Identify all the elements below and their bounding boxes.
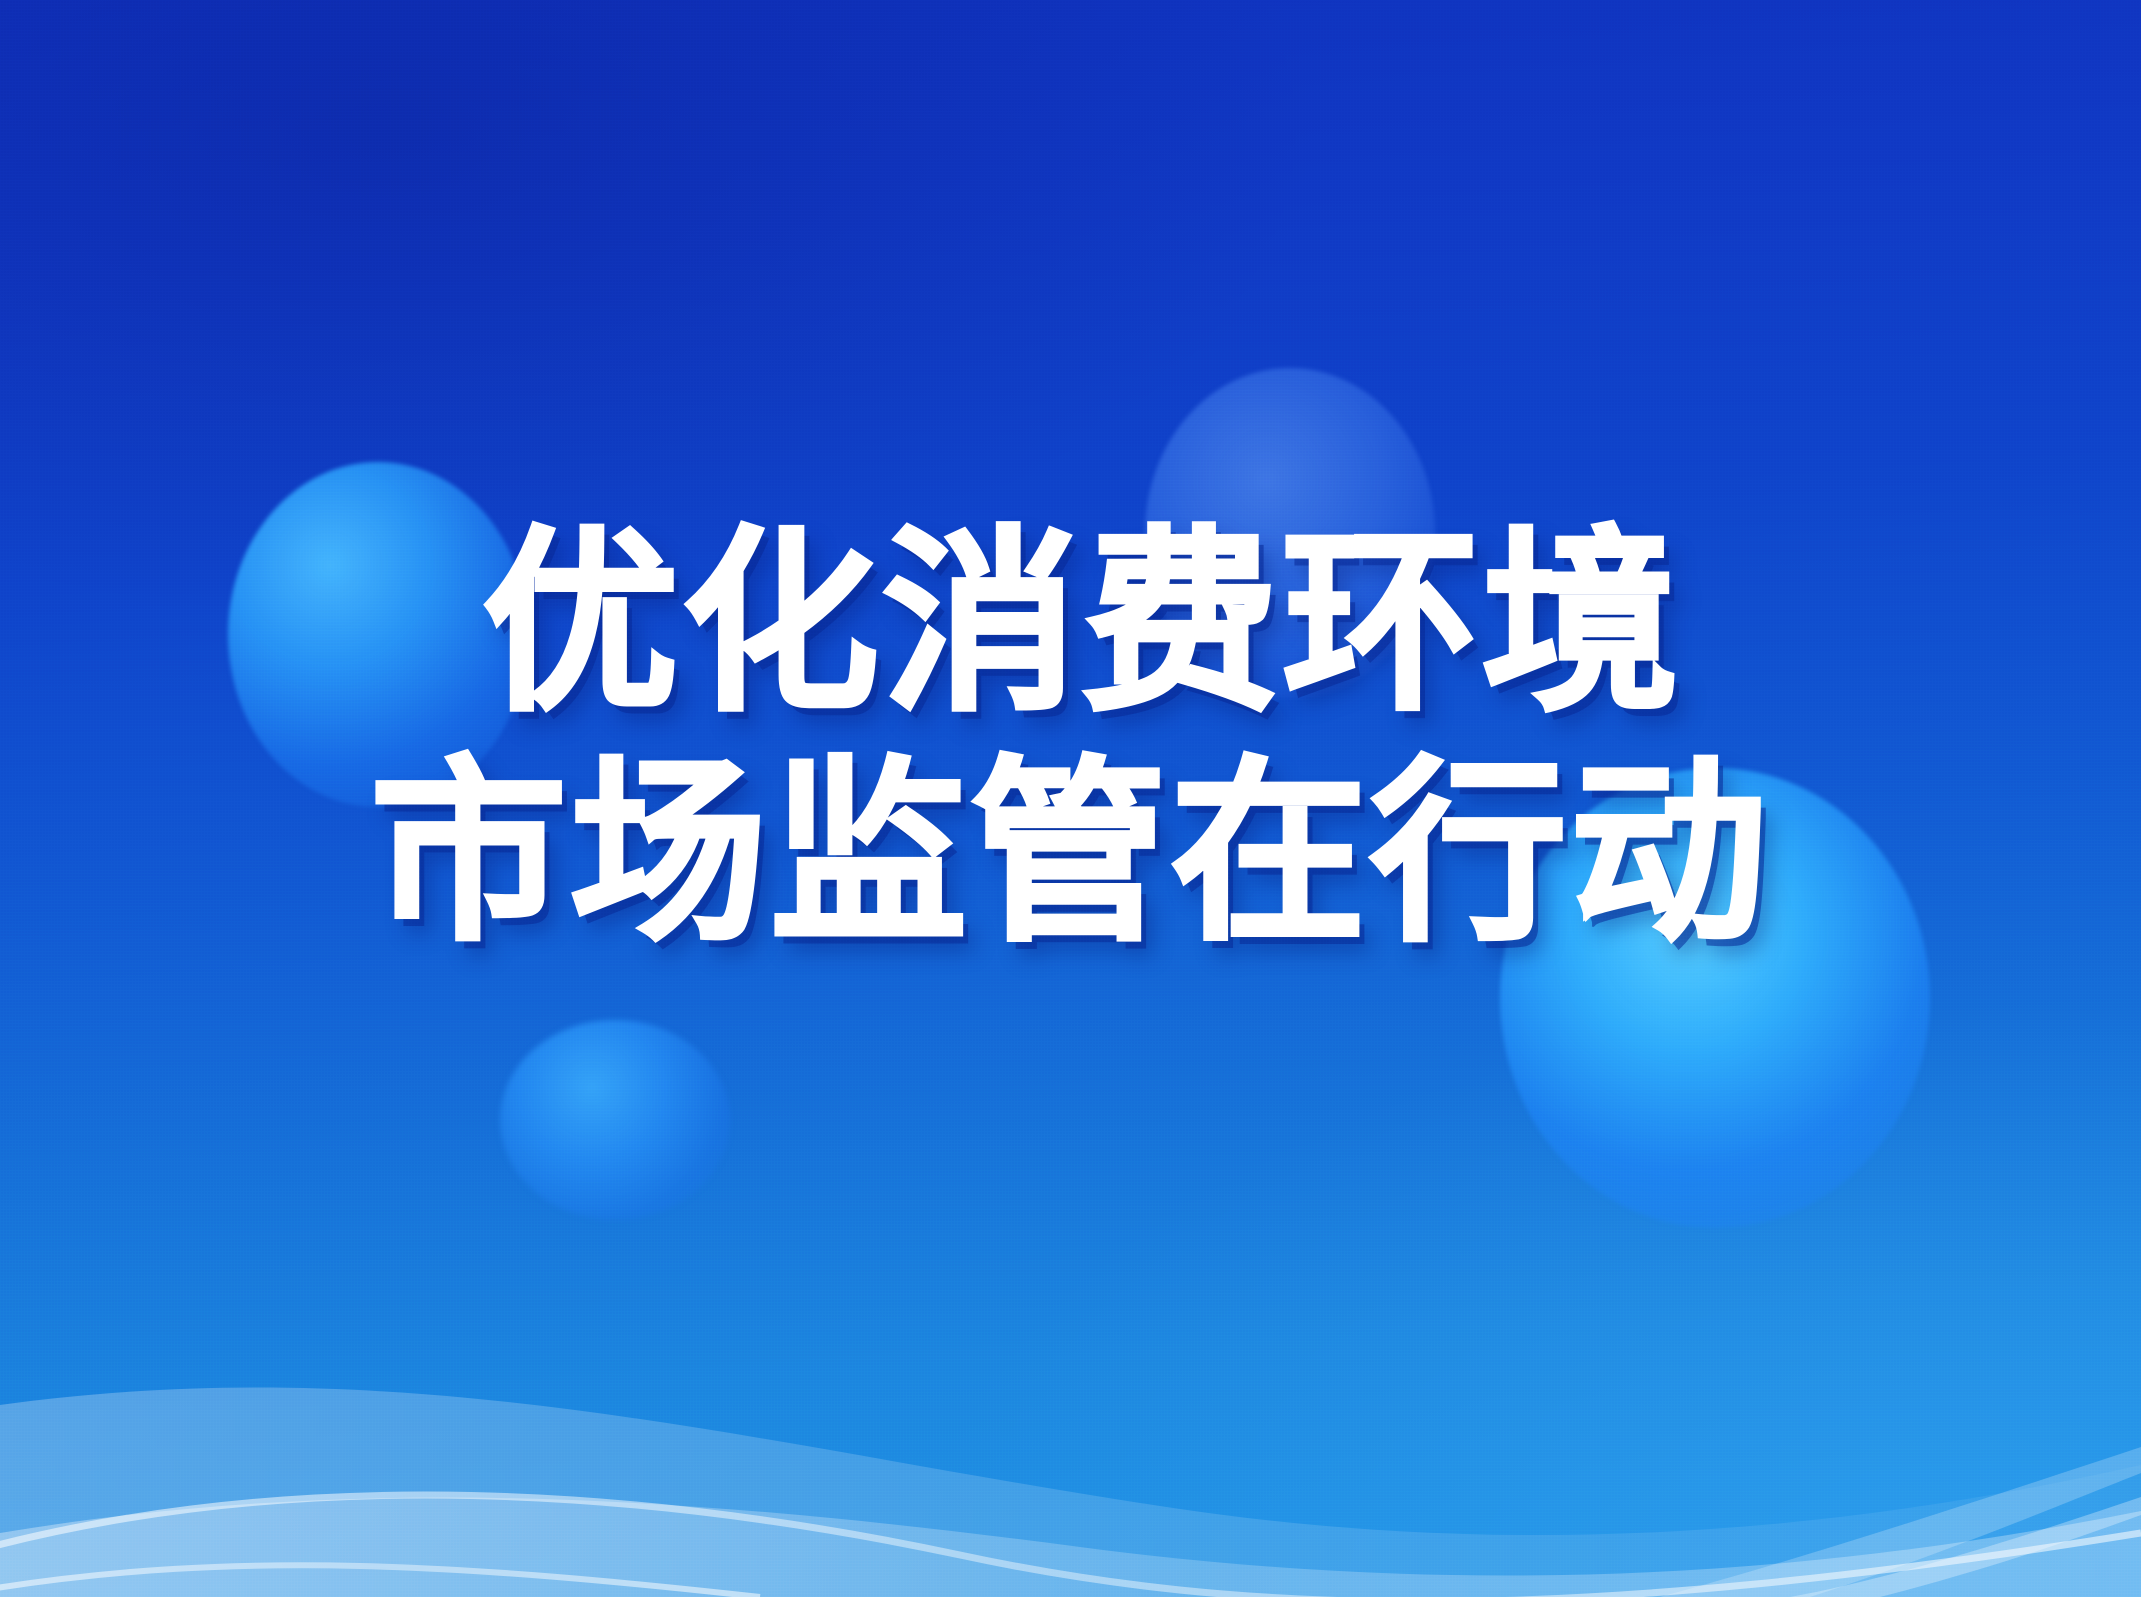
poster-canvas: 优化消费环境 市场监管在行动 (0, 0, 2141, 1597)
headline-line-2: 市场监管在行动 (370, 752, 1770, 956)
headline-block: 优化消费环境 市场监管在行动 (0, 0, 2141, 1597)
headline-line-1: 优化消费环境 (482, 522, 1682, 726)
